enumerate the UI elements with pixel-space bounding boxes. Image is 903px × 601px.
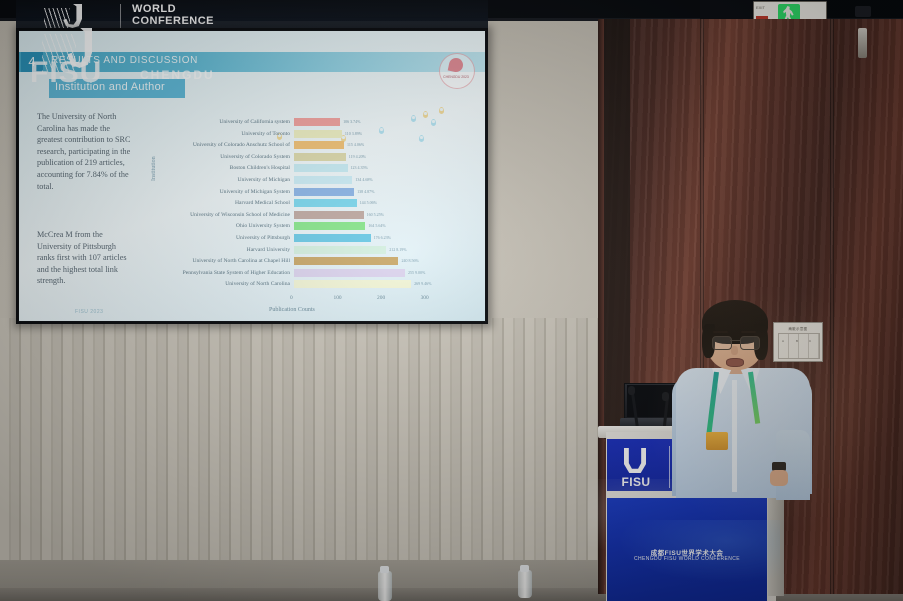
chart-bar — [294, 199, 357, 207]
chart-bar-value-label: 164 5.64% — [368, 221, 385, 231]
speaker-eyeglass-bridge — [730, 340, 740, 341]
chart-bar-value-label: 115 4.06% — [347, 140, 364, 150]
chart-bar-category-label: University of North Carolina at Chapel H… — [192, 256, 290, 266]
chart-bar — [294, 234, 371, 242]
wall-sign-floorplan — [778, 333, 820, 359]
chart-bar — [294, 153, 346, 161]
chart-bar — [294, 130, 342, 138]
chart-bar — [294, 211, 364, 219]
chart-bar-value-label: 160 5.25% — [367, 210, 384, 220]
chart-bar-value-label: 144 5.06% — [360, 198, 377, 208]
podium-logo-divider — [669, 446, 670, 488]
chart-bar-row: University of North Carolina269 9.46% — [149, 279, 469, 289]
ceiling-light-fixture — [855, 6, 871, 17]
wall-slat-texture — [0, 318, 600, 601]
chart-bar-category-label: University of Michigan System — [220, 187, 290, 197]
chart-bar-category-label: Pennsylvania State System of Higher Educ… — [183, 268, 290, 278]
chart-bar-category-label: University of California system — [219, 117, 290, 127]
chart-bar — [294, 164, 348, 172]
chart-bar-category-label: University of Pittsburgh — [236, 233, 290, 243]
door-seam — [830, 19, 834, 594]
chart-bar-value-label: 240 8.56% — [401, 256, 418, 266]
dark-wall-column — [604, 19, 630, 439]
chart-bar-value-label: 138 4.87% — [357, 187, 374, 197]
wall-evacuation-sign: 痏散示意图 A B C — [773, 322, 823, 362]
chart-bar-category-label: University of Colorado System — [220, 152, 290, 162]
door-handle[interactable] — [858, 28, 867, 58]
slide-section-title: RESULTS AND DISCUSSION — [51, 55, 198, 66]
chart-bar-category-label: Boston Children's Hospital — [230, 163, 290, 173]
chart-bar — [294, 222, 365, 230]
chart-bar — [294, 188, 354, 196]
ceiling-panel — [700, 0, 760, 19]
overlay-title-line1: WORLD — [132, 3, 176, 15]
chart-bar-category-label: Harvard University — [247, 245, 290, 255]
slide-paragraph-1: The University of North Carolina has mad… — [37, 111, 133, 192]
chart-bar — [294, 280, 411, 288]
chart-bar-row: Harvard Medical School144 5.06% — [149, 198, 469, 208]
speaker-shirt-placket — [732, 380, 737, 492]
chart-bar-row: University of California system106 3.74% — [149, 117, 469, 127]
chart-bar-category-label: University of North Carolina — [225, 279, 290, 289]
wall-sign-room-label: C — [809, 339, 811, 343]
conference-presentation-photo: EXIT 痏散示意图 A B C WORLD CONFERENCE 4 RESU… — [0, 0, 903, 601]
chart-bar-category-label: University of Michigan — [237, 175, 290, 185]
chart-bar-category-label: Harvard Medical School — [235, 198, 290, 208]
chart-bar-row: Boston Children's Hospital123 4.35% — [149, 163, 469, 173]
chart-bar-row: University of North Carolina at Chapel H… — [149, 256, 469, 266]
slide-section-number: 4 — [21, 52, 43, 72]
speaker-hand — [770, 470, 788, 486]
chart-x-tick-label: 0 — [290, 295, 293, 301]
chart-bar-row: University of Colorado System119 4.20% — [149, 152, 469, 162]
chart-bar-value-label: 123 4.35% — [351, 163, 368, 173]
chart-x-tick-label: 300 — [421, 295, 429, 301]
chart-bar-value-label: 255 9.00% — [408, 268, 425, 278]
water-bottle — [518, 570, 532, 598]
chart-bar-row: Pennsylvania State System of Higher Educ… — [149, 268, 469, 278]
chart-bar-category-label: University of Colorado Anschutz School o… — [193, 140, 290, 150]
chart-bar-row: Harvard University212 8.19% — [149, 245, 469, 255]
microphone-head — [628, 386, 635, 395]
chart-bar-row: University of Toronto110 3.89% — [149, 129, 469, 139]
chart-bar — [294, 246, 386, 254]
speaker-eyeglass-lens-left — [712, 336, 732, 350]
chart-x-tick-label: 200 — [377, 295, 385, 301]
chart-bar — [294, 257, 398, 265]
water-bottle-cap — [520, 565, 529, 572]
chart-bar-value-label: 176 6.23% — [374, 233, 391, 243]
chart-bar-row: University of Colorado Anschutz School o… — [149, 140, 469, 150]
chart-bar-row: University of Wisconsin School of Medici… — [149, 210, 469, 220]
chart-x-axis-label: Publication Counts — [269, 307, 315, 313]
slide-paragraph-2: McCrea M from the University of Pittsbur… — [37, 229, 133, 287]
chart-bar — [294, 176, 352, 184]
chart-bar-category-label: University of Toronto — [241, 129, 290, 139]
publication-counts-bar-chart: Institution University of California sys… — [149, 89, 469, 319]
wall-sign-room-label: A — [782, 339, 784, 343]
exit-sign-label: EXIT — [756, 5, 765, 10]
podium-brand-text: FISU — [614, 475, 658, 489]
wall-sign-title: 痏散示意图 — [774, 326, 822, 331]
chart-bar-value-label: 134 4.68% — [355, 175, 372, 185]
microphone-head — [662, 392, 669, 401]
overlay-divider — [120, 4, 121, 28]
chart-bar — [294, 141, 344, 149]
speaker-eyeglass-lens-right — [740, 336, 760, 350]
water-bottle — [378, 571, 392, 601]
chart-bar-category-label: Ohio University System — [236, 221, 290, 231]
chart-bar — [294, 269, 405, 277]
chart-bar-row: University of Michigan System138 4.87% — [149, 187, 469, 197]
chart-bar-value-label: 110 3.89% — [345, 129, 362, 139]
chart-x-tick-label: 100 — [334, 295, 342, 301]
slide-footer: FISU 2023 — [75, 309, 103, 315]
chart-bar-category-label: University of Wisconsin School of Medici… — [190, 210, 290, 220]
speaker-nose — [731, 346, 738, 355]
podium-banner-english: CHENGDU FISU WORLD CONFERENCE — [607, 556, 767, 562]
chart-bar-value-label: 119 4.20% — [349, 152, 366, 162]
speaker-mouth — [726, 358, 744, 367]
wall-sign-room-label: B — [796, 339, 798, 343]
chart-bar — [294, 118, 340, 126]
speaker-name-badge — [706, 432, 728, 450]
chart-bar-value-label: 106 3.74% — [343, 117, 360, 127]
chengdu-logo-caption: CHENGDU 2023 — [439, 75, 473, 79]
chart-bar-row: Ohio University System164 5.64% — [149, 221, 469, 231]
chart-bar-row: University of Pittsburgh176 6.23% — [149, 233, 469, 243]
presentation-slide: 4 RESULTS AND DISCUSSION Institution and… — [19, 31, 485, 321]
water-bottle-cap — [380, 566, 389, 573]
chart-bar-row: University of Michigan134 4.68% — [149, 175, 469, 185]
chart-bar-value-label: 212 8.19% — [389, 245, 406, 255]
chart-bar-value-label: 269 9.46% — [414, 279, 431, 289]
